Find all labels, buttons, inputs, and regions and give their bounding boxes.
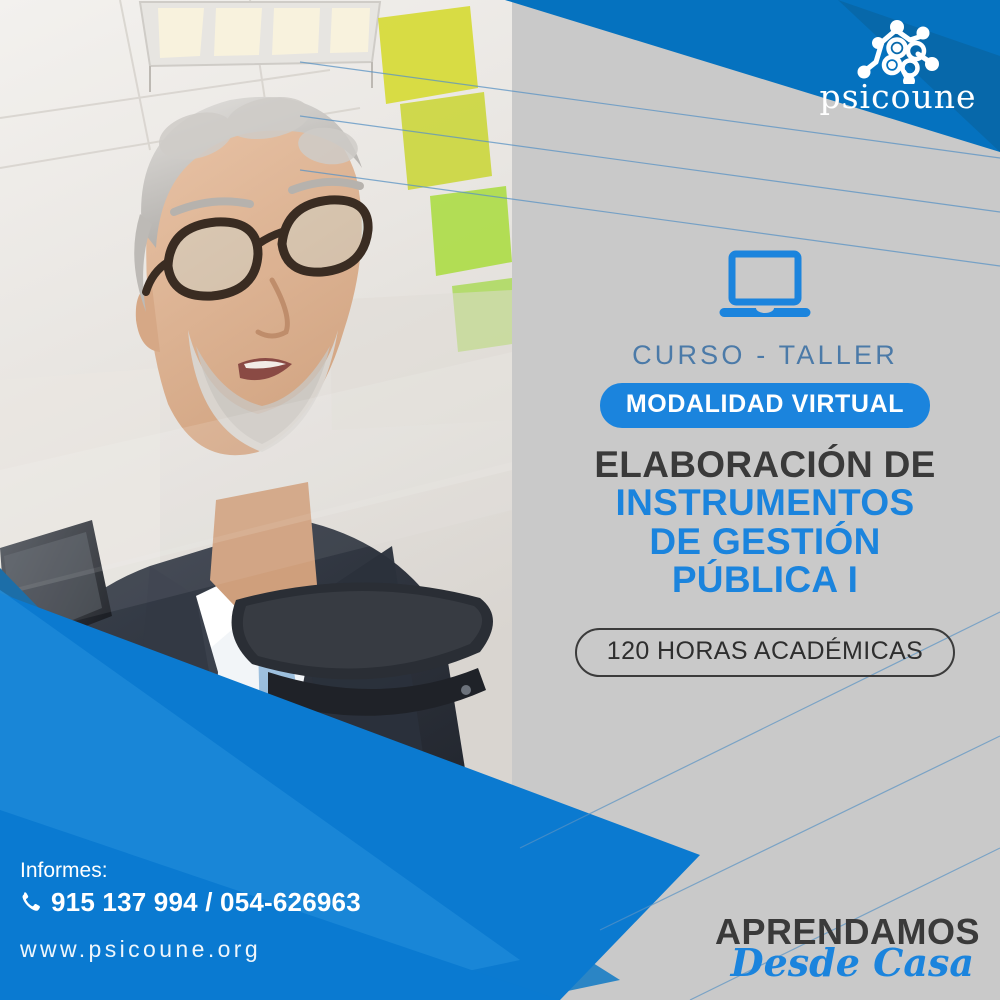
modality-badge: MODALIDAD VIRTUAL [600, 383, 930, 428]
course-title-line-3: DE GESTIÓN [540, 523, 990, 561]
modality-badge-row: MODALIDAD VIRTUAL [540, 383, 990, 428]
course-title-line-4: PÚBLICA I [540, 561, 990, 599]
molecule-network-icon [852, 18, 944, 84]
contact-label: Informes: [20, 860, 361, 881]
course-hours-badge: 120 HORAS ACADÉMICAS [575, 628, 955, 677]
phone-icon [18, 890, 42, 914]
contact-website[interactable]: www.psicoune.org [20, 938, 361, 961]
promotional-poster: psicoune CURSO - TALLER MODALIDAD VIRTUA… [0, 0, 1000, 1000]
course-title-line-1: ELABORACIÓN DE [540, 446, 990, 484]
contact-phone-row[interactable]: 915 137 994 / 054-626963 [18, 889, 361, 915]
logo-wordmark: psicoune [818, 80, 978, 113]
course-hours-row: 120 HORAS ACADÉMICAS [540, 628, 990, 677]
contact-phone-numbers: 915 137 994 / 054-626963 [51, 889, 361, 915]
contact-block: Informes: 915 137 994 / 054-626963 www.p… [18, 860, 361, 984]
laptop-icon [718, 250, 812, 320]
course-info-block: CURSO - TALLER MODALIDAD VIRTUAL ELABORA… [540, 250, 990, 677]
course-title-line-2: INSTRUMENTOS [540, 484, 990, 522]
brand-logo[interactable]: psicoune [818, 18, 978, 113]
tagline-line-2: Desde Casa [715, 944, 974, 982]
tagline-block: APRENDAMOS Desde Casa [715, 914, 980, 982]
course-title: ELABORACIÓN DE INSTRUMENTOS DE GESTIÓN P… [540, 446, 990, 600]
course-kicker: CURSO - TALLER [540, 342, 990, 369]
